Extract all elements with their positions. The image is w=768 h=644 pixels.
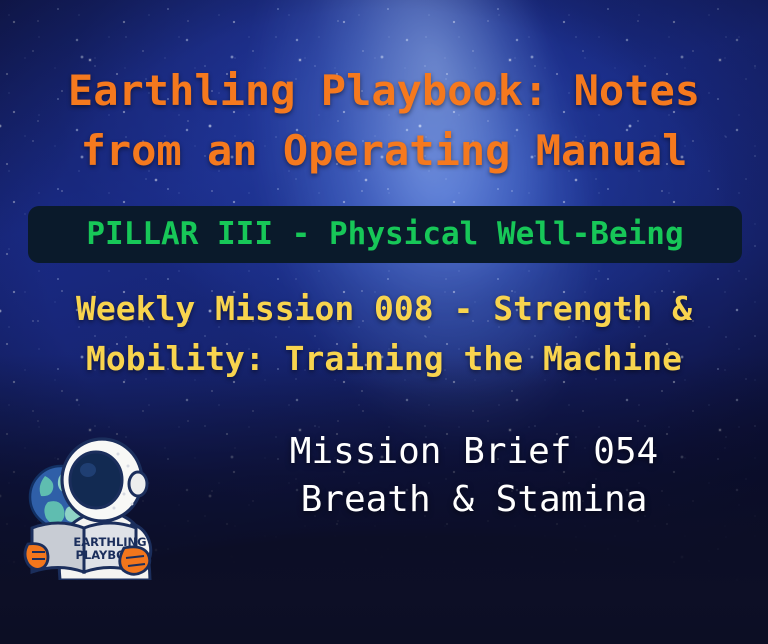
pillar-banner-label: PILLAR III - Physical Well-Being <box>86 219 683 250</box>
poster-canvas: Earthling Playbook: Notes from an Operat… <box>0 0 768 644</box>
mission-brief-heading: Mission Brief 054 Breath & Stamina <box>180 428 768 524</box>
poster-content: Earthling Playbook: Notes from an Operat… <box>0 0 768 644</box>
weekly-mission-heading: Weekly Mission 008 - Strength & Mobility… <box>0 284 768 383</box>
pillar-banner: PILLAR III - Physical Well-Being <box>28 206 742 263</box>
astronaut-reading-mascot: EARTHLING PLAYBOOK <box>14 432 172 580</box>
page-title: Earthling Playbook: Notes from an Operat… <box>34 61 734 180</box>
astronaut-helmet <box>62 439 147 521</box>
